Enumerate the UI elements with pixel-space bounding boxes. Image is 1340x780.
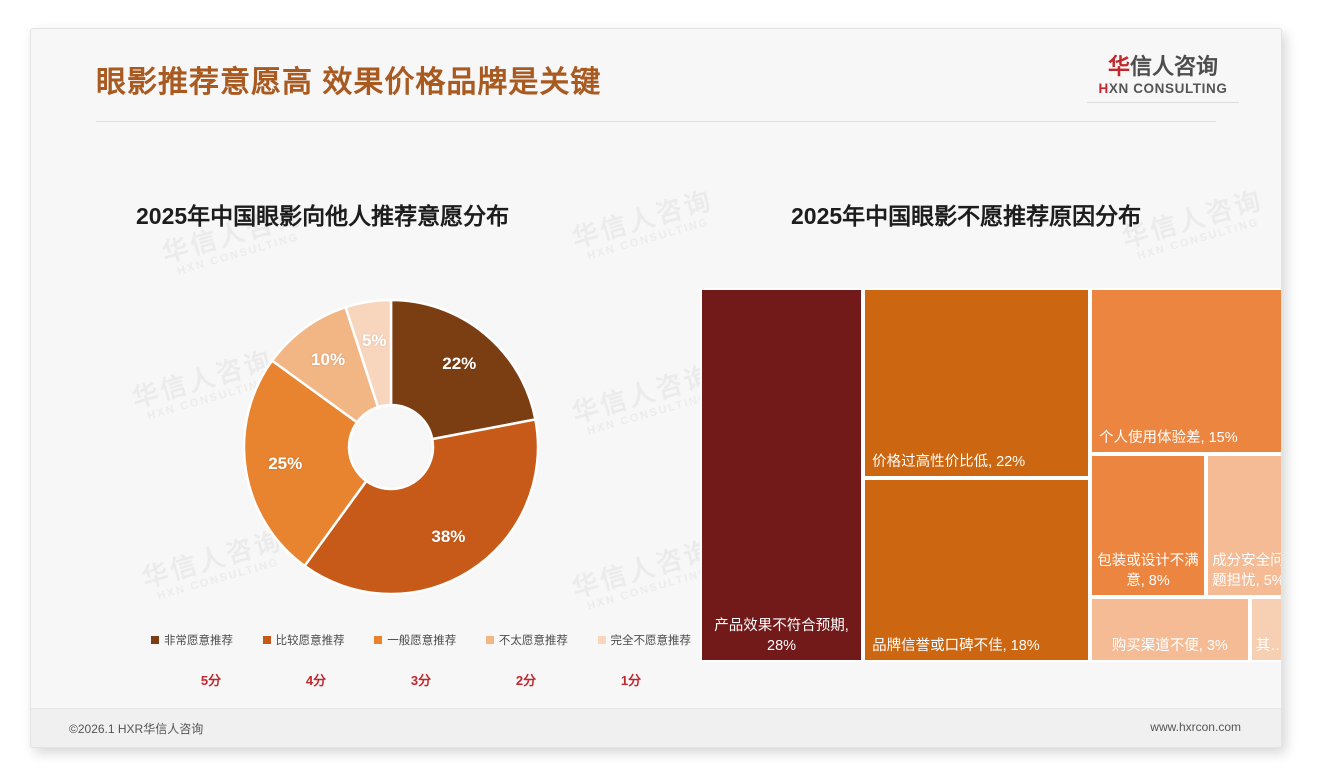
treemap-cell[interactable]: 包装或设计不满意, 8% bbox=[1090, 454, 1206, 597]
logo-chinese-rest: 信人咨询 bbox=[1130, 54, 1218, 79]
watermark-line2: HXN CONSULTING bbox=[577, 389, 720, 441]
logo-chinese: 华信人咨询 bbox=[1087, 54, 1239, 80]
watermark-line1: 华信人咨询 bbox=[567, 180, 717, 256]
legend-label: 不太愿意推荐 bbox=[499, 632, 568, 648]
treemap-cell[interactable]: 其… bbox=[1250, 597, 1282, 662]
legend-swatch-icon bbox=[598, 636, 606, 644]
treemap-cell[interactable]: 价格过高性价比低, 22% bbox=[863, 288, 1090, 478]
legend-label: 比较愿意推荐 bbox=[276, 632, 345, 648]
legend-swatch-icon bbox=[486, 636, 494, 644]
treemap-cell[interactable]: 产品效果不符合预期, 28% bbox=[700, 288, 863, 662]
logo-english-rest: XN CONSULTING bbox=[1109, 81, 1228, 96]
treemap-cell[interactable]: 购买渠道不便, 3% bbox=[1090, 597, 1250, 662]
treemap-cell-label: 其… bbox=[1256, 636, 1282, 656]
treemap-cell[interactable]: 个人使用体验差, 15% bbox=[1090, 288, 1282, 454]
legend-swatch-icon bbox=[151, 636, 159, 644]
legend-item[interactable]: 不太愿意推荐 bbox=[486, 632, 568, 648]
logo-chinese-accent: 华 bbox=[1108, 54, 1130, 79]
watermark-line2: HXN CONSULTING bbox=[577, 564, 720, 616]
watermark-line2: HXN CONSULTING bbox=[577, 214, 720, 266]
watermark: 华信人咨询 HXN CONSULTING bbox=[567, 530, 719, 615]
score-scale-row: 5分4分3分2分1分 bbox=[171, 670, 671, 689]
treemap-cell-label: 产品效果不符合预期, 28% bbox=[706, 616, 857, 656]
donut-chart-svg bbox=[196, 277, 586, 617]
header-divider bbox=[96, 121, 1216, 122]
donut-slice-label: 10% bbox=[311, 350, 345, 370]
page-title: 眼影推荐意愿高 效果价格品牌是关键 bbox=[96, 57, 601, 101]
watermark: 华信人咨询 HXN CONSULTING bbox=[567, 180, 719, 265]
slide-footer: ©2026.1 HXR华信人咨询 www.hxrcon.com bbox=[31, 708, 1281, 747]
donut-slice-label: 5% bbox=[362, 331, 387, 351]
watermark-line2: HXN CONSULTING bbox=[1127, 214, 1270, 266]
legend-label: 一般愿意推荐 bbox=[387, 632, 456, 648]
legend-item[interactable]: 非常愿意推荐 bbox=[151, 632, 233, 648]
legend-swatch-icon bbox=[374, 636, 382, 644]
slide-header: 眼影推荐意愿高 效果价格品牌是关键 华信人咨询 HXN CONSULTING bbox=[31, 29, 1281, 129]
watermark-line1: 华信人咨询 bbox=[567, 355, 717, 431]
footer-copyright: ©2026.1 HXR华信人咨询 bbox=[69, 720, 203, 737]
treemap-chart: 产品效果不符合预期, 28%价格过高性价比低, 22%品牌信誉或口碑不佳, 18… bbox=[700, 288, 1282, 662]
donut-slice-label: 38% bbox=[431, 527, 465, 547]
score-label: 3分 bbox=[381, 670, 461, 689]
legend-item[interactable]: 比较愿意推荐 bbox=[263, 632, 345, 648]
legend-item[interactable]: 一般愿意推荐 bbox=[374, 632, 456, 648]
footer-website: www.hxrcon.com bbox=[1150, 720, 1241, 734]
left-chart-title: 2025年中国眼影向他人推荐意愿分布 bbox=[136, 197, 509, 231]
watermark-line1: 华信人咨询 bbox=[567, 530, 717, 606]
legend-swatch-icon bbox=[263, 636, 271, 644]
donut-slice-label: 22% bbox=[442, 354, 476, 374]
treemap-cell[interactable]: 成分安全问题担忧, 5% bbox=[1206, 454, 1282, 597]
treemap-cell-label: 包装或设计不满意, 8% bbox=[1096, 551, 1200, 591]
score-label: 2分 bbox=[486, 670, 566, 689]
treemap-cell-label: 价格过高性价比低, 22% bbox=[872, 452, 1084, 472]
legend-label: 完全不愿意推荐 bbox=[611, 632, 692, 648]
treemap-cell-label: 品牌信誉或口碑不佳, 18% bbox=[872, 636, 1084, 656]
treemap-cell-label: 个人使用体验差, 15% bbox=[1099, 428, 1282, 448]
right-chart-title: 2025年中国眼影不愿推荐原因分布 bbox=[791, 197, 1141, 231]
logo-underline bbox=[1087, 102, 1239, 103]
donut-chart: 22%38%25%10%5% bbox=[196, 277, 586, 617]
donut-legend: 非常愿意推荐比较愿意推荐一般愿意推荐不太愿意推荐完全不愿意推荐 bbox=[151, 632, 691, 648]
treemap-cell-label: 购买渠道不便, 3% bbox=[1096, 636, 1244, 656]
score-label: 5分 bbox=[171, 670, 251, 689]
treemap-cell-label: 成分安全问题担忧, 5% bbox=[1212, 551, 1282, 591]
score-label: 4分 bbox=[276, 670, 356, 689]
donut-slice-label: 25% bbox=[268, 454, 302, 474]
slide-canvas: 华信人咨询 HXN CONSULTING 华信人咨询 HXN CONSULTIN… bbox=[30, 28, 1282, 748]
watermark: 华信人咨询 HXN CONSULTING bbox=[567, 355, 719, 440]
company-logo: 华信人咨询 HXN CONSULTING bbox=[1087, 54, 1239, 103]
logo-english: HXN CONSULTING bbox=[1087, 81, 1239, 96]
watermark-line2: HXN CONSULTING bbox=[167, 229, 310, 281]
score-label: 1分 bbox=[591, 670, 671, 689]
treemap-cell[interactable]: 品牌信誉或口碑不佳, 18% bbox=[863, 478, 1090, 662]
logo-english-accent: H bbox=[1099, 81, 1109, 96]
legend-item[interactable]: 完全不愿意推荐 bbox=[598, 632, 692, 648]
legend-label: 非常愿意推荐 bbox=[164, 632, 233, 648]
